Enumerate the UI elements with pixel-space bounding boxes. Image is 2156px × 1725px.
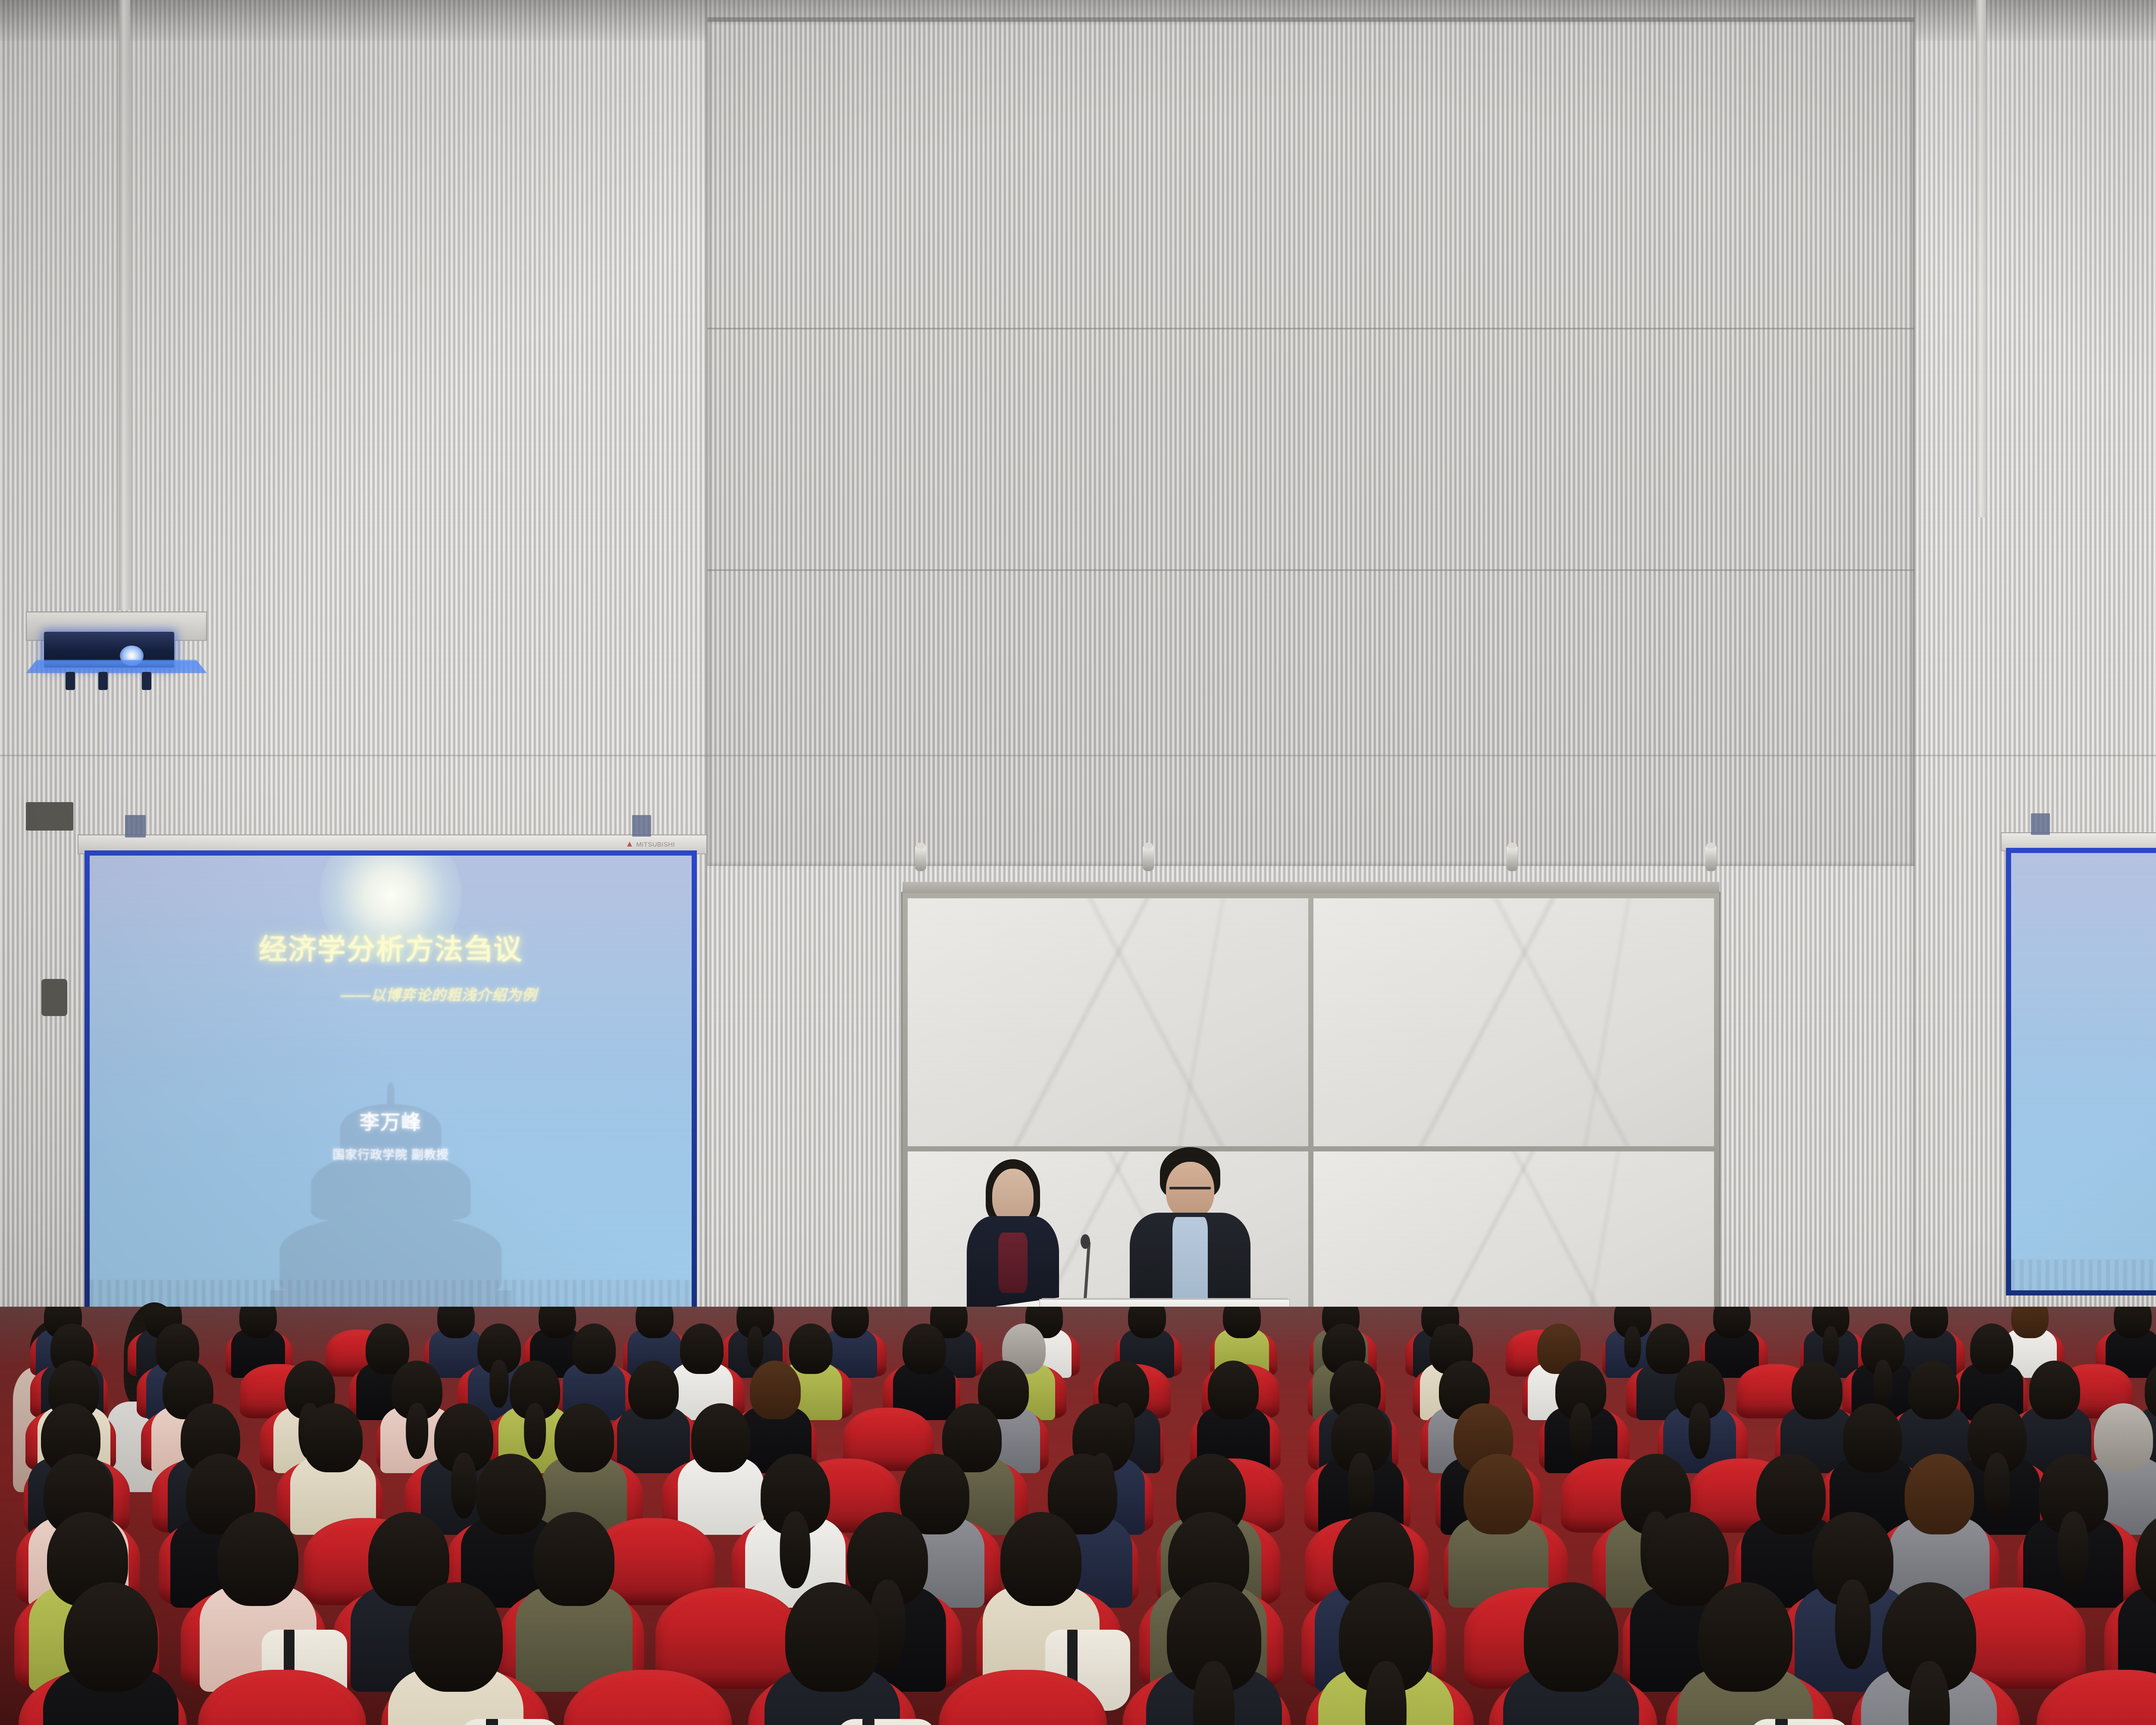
student-head	[1339, 1582, 1433, 1691]
student-head	[539, 1307, 576, 1338]
list-item	[2039, 1454, 2108, 1613]
student-head	[1908, 1361, 1959, 1419]
student-head	[2114, 1307, 2151, 1338]
student-head	[1223, 1307, 1260, 1338]
projector-bolt	[98, 672, 108, 690]
slide-left: 经济学分析方法刍议 ——以博弈论的粗浅介绍为例 李万峰 国家行政学院 副教授	[90, 856, 692, 1312]
student-head	[903, 1324, 946, 1374]
list-item	[1968, 1403, 2027, 1539]
student-head	[628, 1361, 679, 1419]
student-head	[1331, 1403, 1391, 1472]
student-head	[1208, 1361, 1259, 1419]
backpack-strap	[486, 1719, 498, 1725]
backpack	[1750, 1719, 1849, 1725]
wall-vertical-seam	[705, 0, 708, 1402]
student-head	[680, 1324, 724, 1374]
student-head	[572, 1324, 616, 1374]
list-item	[691, 1403, 751, 1539]
screen-brand-label-left: ▲MITSUBISHI	[625, 839, 675, 849]
student-head	[1000, 1512, 1081, 1606]
host-head	[992, 1169, 1034, 1224]
student-head	[1812, 1512, 1893, 1606]
list-item	[903, 1324, 946, 1423]
list-item	[1339, 1582, 1433, 1725]
wall-vertical-seam	[1913, 0, 1915, 1402]
list-item	[1167, 1582, 1261, 1725]
student-head	[1167, 1582, 1261, 1691]
slide-right: 经济学分析方法刍议 ——以博弈论的粗浅介绍为例 李万峰 国家行政学院 副教授	[2011, 853, 2156, 1290]
whiteboard-top-rail	[903, 882, 1719, 893]
audience-seating-area	[0, 1307, 2156, 1725]
slide-subtitle-left: ——以博弈论的粗浅介绍为例	[90, 983, 692, 1004]
student-head	[510, 1361, 561, 1419]
wall-light-fixture	[1143, 846, 1154, 871]
student-head	[1812, 1307, 1849, 1338]
student-head	[64, 1582, 158, 1691]
backpack-strap	[1775, 1719, 1787, 1725]
right-slide-surface: 经济学分析方法刍议 ——以博弈论的粗浅介绍为例 李万峰 国家行政学院 副教授	[2011, 853, 2156, 1290]
backpack	[461, 1719, 559, 1725]
student-head	[239, 1307, 277, 1338]
slide-subtitle-right: ——以博弈论的粗浅介绍为例	[2011, 978, 2156, 997]
student-head	[1713, 1307, 1751, 1338]
student-head	[1128, 1307, 1166, 1338]
list-item	[2136, 1512, 2156, 1697]
student-head	[636, 1307, 673, 1338]
slide-presenter-name-left: 李万峰	[90, 1107, 692, 1135]
student-head	[1861, 1324, 1905, 1374]
wall-horizontal-seam	[0, 755, 2156, 756]
slide-presenter-affiliation-right: 国家行政学院 副教授	[2011, 1133, 2156, 1150]
list-item	[628, 1361, 679, 1477]
list-item	[437, 1307, 475, 1380]
wall-light-fixture	[915, 846, 926, 871]
wall-center-recessed-panel	[707, 21, 1915, 866]
right-projection-screen[interactable]: 经济学分析方法刍议 ——以博弈论的粗浅介绍为例 李万峰 国家行政学院 副教授	[2006, 848, 2156, 1295]
list-item	[1698, 1582, 1792, 1725]
screen-wall-bracket-right	[2031, 813, 2050, 835]
student-head	[217, 1512, 298, 1606]
brand-mark-icon: ▲	[625, 839, 634, 849]
whiteboard-pane[interactable]	[908, 898, 1308, 1146]
left-slide-surface: 经济学分析方法刍议 ——以博弈论的粗浅介绍为例 李万峰 国家行政学院 副教授	[90, 856, 692, 1312]
wall-light-fixture	[1705, 846, 1717, 871]
ceiling-projector-left	[26, 612, 207, 689]
backpack	[837, 1719, 936, 1725]
whiteboard-pane[interactable]	[1313, 1151, 1714, 1314]
ceiling-pipe-left	[119, 0, 130, 610]
list-item	[785, 1582, 879, 1725]
wall-speaker-left	[26, 802, 73, 831]
wall-panel-seam	[707, 328, 1915, 329]
temple-roof-tier-2	[311, 1152, 470, 1220]
list-item	[1524, 1582, 1618, 1725]
student-head	[1674, 1361, 1725, 1419]
student-head	[831, 1307, 869, 1338]
projector-bolt	[66, 672, 75, 690]
student-head	[1524, 1582, 1618, 1691]
backpack-strap	[862, 1719, 874, 1725]
slide-presenter-affiliation-left: 国家行政学院 副教授	[90, 1145, 692, 1163]
wall-panel-seam	[707, 569, 1915, 571]
microphone-head-icon	[1081, 1234, 1090, 1249]
wall-light-fixture	[1507, 846, 1518, 871]
list-item	[1882, 1582, 1976, 1725]
student-head	[303, 1403, 363, 1472]
lecture-hall-photo: ▲MITSUBISHI 经济学分析方法刍议 ——以博弈论的粗浅介绍为例 李万峰	[0, 0, 2156, 1725]
student-head	[555, 1403, 614, 1472]
student-head	[1882, 1582, 1976, 1691]
projector-bolt	[142, 672, 151, 690]
slide-title-right: 经济学分析方法刍议	[2011, 923, 2156, 962]
whiteboard-pane[interactable]	[1313, 898, 1714, 1146]
screen-wall-bracket-left	[632, 815, 651, 837]
student-head	[761, 1454, 830, 1534]
student-head	[750, 1361, 801, 1419]
student-head	[1843, 1403, 1902, 1472]
student-head	[1698, 1582, 1792, 1691]
student-head	[1905, 1454, 1974, 1534]
student-head	[2039, 1454, 2108, 1534]
slide-presenter-name-right: 李万峰	[2011, 1094, 2156, 1121]
ceiling-pipe-right	[1976, 0, 1986, 517]
student-head	[1792, 1361, 1843, 1419]
student-head	[1463, 1454, 1533, 1534]
student-head	[1968, 1403, 2027, 1472]
host-inner-top	[998, 1233, 1028, 1293]
student-head	[691, 1403, 751, 1472]
slide-cityscape-strip	[2011, 1260, 2156, 1290]
student-head	[409, 1582, 503, 1691]
presenter-glasses-icon	[1169, 1187, 1211, 1189]
student-head	[1910, 1307, 1948, 1338]
student-head	[2029, 1361, 2080, 1419]
left-projection-screen[interactable]: 经济学分析方法刍议 ——以博弈论的粗浅介绍为例 李万峰 国家行政学院 副教授	[85, 850, 697, 1317]
list-item	[1812, 1512, 1893, 1697]
student-head	[533, 1512, 614, 1606]
student-head	[437, 1307, 475, 1338]
student-head	[1555, 1361, 1606, 1419]
list-item	[533, 1512, 614, 1697]
list-item	[409, 1582, 503, 1725]
list-item	[64, 1582, 158, 1725]
student-head	[785, 1582, 879, 1691]
screen-wall-bracket-left	[125, 815, 146, 837]
wall-speaker-left-lower	[41, 979, 67, 1016]
slide-title-left: 经济学分析方法刍议	[90, 926, 692, 968]
student-head	[2011, 1307, 2049, 1338]
student-head	[736, 1307, 774, 1338]
projector-light-glow	[26, 660, 207, 681]
presenter-head	[1166, 1162, 1214, 1219]
student-head	[1970, 1324, 2014, 1374]
